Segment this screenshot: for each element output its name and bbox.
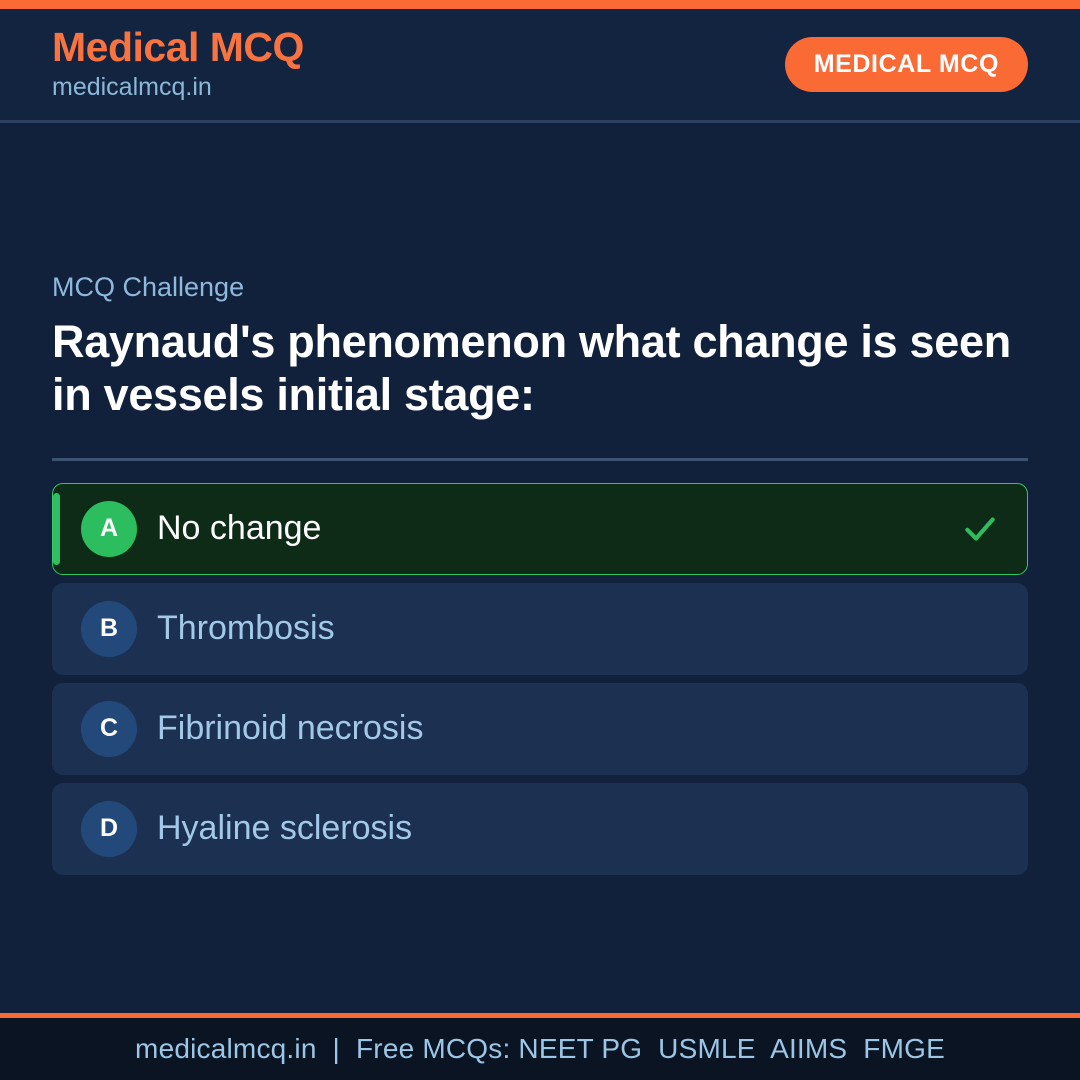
- option-row-c[interactable]: C Fibrinoid necrosis: [52, 683, 1028, 775]
- question-content: MCQ Challenge Raynaud's phenomenon what …: [52, 271, 1028, 875]
- brand-subtitle: medicalmcq.in: [52, 71, 304, 104]
- option-label-d: Hyaline sclerosis: [157, 808, 999, 849]
- footer-text: medicalmcq.in | Free MCQs: NEET PG USMLE…: [135, 1033, 945, 1065]
- brand-block: Medical MCQ medicalmcq.in: [52, 26, 304, 104]
- option-badge-b: B: [81, 601, 137, 657]
- top-accent-bar: [0, 0, 1080, 9]
- option-label-a: No change: [157, 508, 961, 549]
- option-row-a[interactable]: A No change: [52, 483, 1028, 575]
- check-icon: [961, 510, 999, 548]
- option-row-d[interactable]: D Hyaline sclerosis: [52, 783, 1028, 875]
- header: Medical MCQ medicalmcq.in MEDICAL MCQ: [0, 9, 1080, 123]
- header-badge[interactable]: MEDICAL MCQ: [785, 37, 1028, 92]
- mcq-card: Medical MCQ medicalmcq.in MEDICAL MCQ MC…: [0, 0, 1080, 1080]
- brand-title: Medical MCQ: [52, 26, 304, 69]
- footer: medicalmcq.in | Free MCQs: NEET PG USMLE…: [0, 1013, 1080, 1080]
- option-badge-d: D: [81, 801, 137, 857]
- section-divider: [52, 458, 1028, 461]
- question-body: MCQ Challenge Raynaud's phenomenon what …: [0, 123, 1080, 1013]
- options-list: A No change B Thrombosis C Fibrinoid nec…: [52, 483, 1028, 875]
- option-row-b[interactable]: B Thrombosis: [52, 583, 1028, 675]
- question-text: Raynaud's phenomenon what change is seen…: [52, 315, 1028, 421]
- correct-accent-bar: [53, 493, 60, 565]
- option-label-b: Thrombosis: [157, 608, 999, 649]
- option-badge-a: A: [81, 501, 137, 557]
- option-label-c: Fibrinoid necrosis: [157, 708, 999, 749]
- option-badge-c: C: [81, 701, 137, 757]
- eyebrow-label: MCQ Challenge: [52, 271, 1028, 303]
